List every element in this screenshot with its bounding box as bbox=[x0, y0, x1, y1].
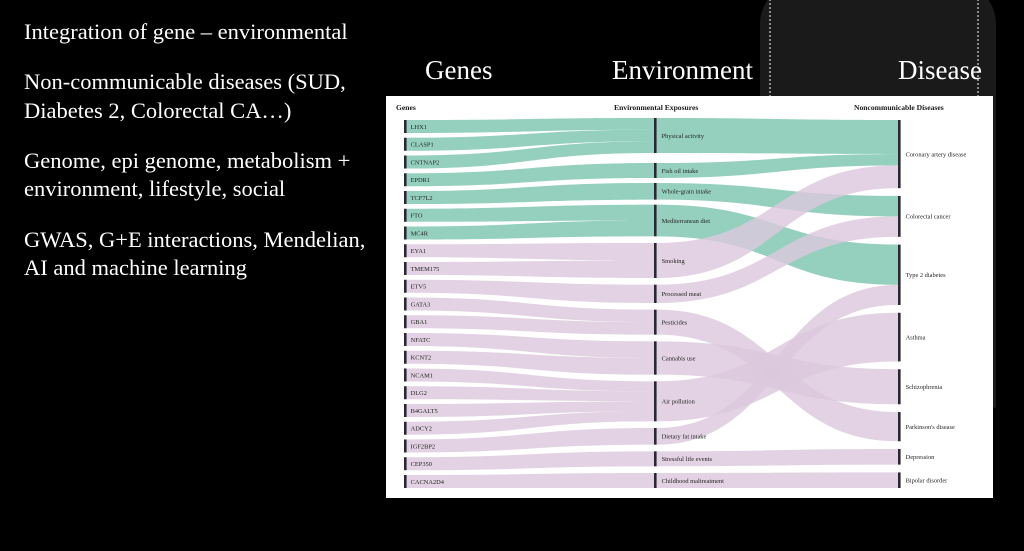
sankey-node-coronary-artery-disease[interactable] bbox=[898, 120, 901, 188]
sankey-node-label-MC4R: MC4R bbox=[411, 230, 429, 237]
slide-body-text: Integration of gene – environmental Non-… bbox=[24, 18, 376, 304]
sankey-node-label-B4GALT5: B4GALT5 bbox=[411, 408, 438, 415]
sankey-node-childhood-maltreatment[interactable] bbox=[654, 473, 657, 488]
sankey-node-label-pesticides: Pesticides bbox=[662, 319, 688, 326]
sankey-node-physical-activity[interactable] bbox=[654, 118, 657, 153]
sankey-node-label-DLG2: DLG2 bbox=[411, 390, 427, 397]
sankey-node-label-CACNA2D4: CACNA2D4 bbox=[411, 479, 445, 486]
sankey-node-IGF2BP2[interactable] bbox=[404, 439, 407, 452]
sankey-node-colorectal-cancer[interactable] bbox=[898, 196, 901, 237]
sankey-node-TCF7L2[interactable] bbox=[404, 191, 407, 204]
sankey-node-FTO[interactable] bbox=[404, 209, 407, 222]
column-title-disease: Noncommunicable Diseases bbox=[854, 103, 944, 112]
sankey-node-bipolar-disorder[interactable] bbox=[898, 472, 901, 488]
sankey-node-label-processed-meat: Processed meat bbox=[662, 291, 702, 298]
sankey-node-label-type-2-diabetes: Type 2 diabetes bbox=[906, 272, 947, 279]
sankey-node-mediterranean-diet[interactable] bbox=[654, 205, 657, 237]
sankey-node-label-coronary-artery-disease: Coronary artery disease bbox=[906, 151, 967, 158]
sankey-node-label-depression: Depression bbox=[906, 454, 936, 461]
sankey-node-CACNA2D4[interactable] bbox=[404, 475, 407, 488]
sankey-node-label-parkinsons-disease: Parkinson's disease bbox=[906, 424, 955, 431]
sankey-node-air-pollution[interactable] bbox=[654, 381, 657, 421]
body-paragraph-4: GWAS, G+E interactions, Mendelian, AI an… bbox=[24, 226, 376, 283]
sankey-node-label-TCF7L2: TCF7L2 bbox=[411, 195, 433, 202]
sankey-node-stressful-life-events[interactable] bbox=[654, 451, 657, 466]
sankey-node-label-ADCY2: ADCY2 bbox=[411, 426, 432, 433]
sankey-node-GATA3[interactable] bbox=[404, 297, 407, 310]
sankey-node-label-schizophrenia: Schizophrenia bbox=[906, 384, 943, 391]
sankey-node-LHX1[interactable] bbox=[404, 120, 407, 133]
sankey-node-GBA1[interactable] bbox=[404, 315, 407, 328]
sankey-node-label-dietary-fat-intake: Dietary fat intake bbox=[662, 434, 707, 441]
sankey-node-MC4R[interactable] bbox=[404, 226, 407, 239]
slide-canvas: Integration of gene – environmental Non-… bbox=[0, 0, 1024, 551]
sankey-node-EPDR1[interactable] bbox=[404, 173, 407, 186]
sankey-node-label-bipolar-disorder: Bipolar disorder bbox=[906, 478, 949, 485]
sankey-node-label-childhood-maltreatment: Childhood maltreatment bbox=[662, 478, 725, 485]
sankey-node-processed-meat[interactable] bbox=[654, 285, 657, 303]
sankey-node-B4GALT5[interactable] bbox=[404, 404, 407, 417]
sankey-node-EYA1[interactable] bbox=[404, 244, 407, 257]
heading-disease: Disease bbox=[898, 57, 982, 84]
sankey-link-TCF7L2-to-whole-grain-intake bbox=[407, 183, 654, 204]
sankey-node-cannabis-use[interactable] bbox=[654, 341, 657, 374]
sankey-node-CNTNAP2[interactable] bbox=[404, 155, 407, 168]
sankey-link-FTO-to-mediterranean-diet bbox=[407, 205, 654, 222]
sankey-node-label-IGF2BP2: IGF2BP2 bbox=[411, 443, 436, 450]
sankey-node-KCNT2[interactable] bbox=[404, 351, 407, 364]
sankey-links-gene-environment bbox=[407, 118, 654, 488]
sankey-node-TMEM175[interactable] bbox=[404, 262, 407, 275]
sankey-diagram-panel: LHX1CLASP1CNTNAP2EPDR1TCF7L2FTOMC4REYA1T… bbox=[386, 96, 993, 498]
sankey-node-schizophrenia[interactable] bbox=[898, 369, 901, 404]
sankey-node-CEP350[interactable] bbox=[404, 457, 407, 470]
sankey-column-titles: Genes Environmental Exposures Noncommuni… bbox=[396, 103, 944, 112]
sankey-node-label-smoking: Smoking bbox=[662, 258, 686, 265]
sankey-node-label-GBA1: GBA1 bbox=[411, 319, 428, 326]
sankey-node-label-stressful-life-events: Stressful life events bbox=[662, 456, 713, 463]
sankey-node-parkinsons-disease[interactable] bbox=[898, 412, 901, 441]
sankey-node-label-NFATC: NFATC bbox=[411, 337, 431, 344]
sankey-node-label-TMEM175: TMEM175 bbox=[411, 266, 440, 273]
sankey-node-label-air-pollution: Air pollution bbox=[662, 399, 696, 406]
heading-genes: Genes bbox=[425, 57, 492, 84]
sankey-node-label-EPDR1: EPDR1 bbox=[411, 177, 431, 184]
sankey-node-dietary-fat-intake[interactable] bbox=[654, 428, 657, 445]
sankey-node-label-EYA1: EYA1 bbox=[411, 248, 427, 255]
sankey-node-label-colorectal-cancer: Colorectal cancer bbox=[906, 214, 952, 221]
sankey-node-label-fish-oil-intake: Fish oil intake bbox=[662, 168, 699, 175]
sankey-node-label-FTO: FTO bbox=[411, 213, 423, 220]
sankey-link-TMEM175-to-smoking bbox=[407, 261, 654, 279]
sankey-node-label-physical-activity: Physical activity bbox=[662, 133, 705, 140]
column-title-genes: Genes bbox=[396, 103, 416, 112]
sankey-node-asthma[interactable] bbox=[898, 313, 901, 362]
sankey-node-NFATC[interactable] bbox=[404, 333, 407, 346]
sankey-node-ADCY2[interactable] bbox=[404, 422, 407, 435]
body-paragraph-2: Non-communicable diseases (SUD, Diabetes… bbox=[24, 68, 376, 125]
body-paragraph-1: Integration of gene – environmental bbox=[24, 18, 376, 46]
sankey-node-depression[interactable] bbox=[898, 449, 901, 465]
heading-environment: Environment bbox=[612, 57, 753, 84]
sankey-node-NCAM1[interactable] bbox=[404, 368, 407, 381]
sankey-node-label-KCNT2: KCNT2 bbox=[411, 355, 432, 362]
decorative-dotted-line-right bbox=[977, 0, 979, 104]
sankey-node-label-ETV5: ETV5 bbox=[411, 284, 427, 291]
sankey-node-label-LHX1: LHX1 bbox=[411, 124, 427, 131]
sankey-node-label-NCAM1: NCAM1 bbox=[411, 372, 433, 379]
sankey-node-label-GATA3: GATA3 bbox=[411, 301, 431, 308]
sankey-node-CLASP1[interactable] bbox=[404, 138, 407, 151]
sankey-node-ETV5[interactable] bbox=[404, 280, 407, 293]
sankey-link-EYA1-to-smoking bbox=[407, 243, 654, 261]
sankey-node-DLG2[interactable] bbox=[404, 386, 407, 399]
sankey-node-label-asthma: Asthma bbox=[906, 334, 926, 341]
sankey-link-CEP350-to-stressful-life-events bbox=[407, 451, 654, 470]
decorative-dotted-line-left bbox=[769, 0, 771, 104]
sankey-node-label-CNTNAP2: CNTNAP2 bbox=[411, 159, 440, 166]
sankey-svg: LHX1CLASP1CNTNAP2EPDR1TCF7L2FTOMC4REYA1T… bbox=[386, 96, 993, 498]
column-title-environment: Environmental Exposures bbox=[614, 103, 698, 112]
sankey-node-label-CEP350: CEP350 bbox=[411, 461, 432, 468]
sankey-node-smoking[interactable] bbox=[654, 243, 657, 278]
sankey-node-label-cannabis-use: Cannabis use bbox=[662, 355, 696, 362]
sankey-node-whole-grain-intake[interactable] bbox=[654, 183, 657, 200]
sankey-node-type-2-diabetes[interactable] bbox=[898, 245, 901, 305]
sankey-node-label-mediterranean-diet: Mediterranean diet bbox=[662, 218, 711, 225]
body-paragraph-3: Genome, epi genome, metabolism + environ… bbox=[24, 147, 376, 204]
sankey-node-label-CLASP1: CLASP1 bbox=[411, 142, 434, 149]
sankey-node-fish-oil-intake[interactable] bbox=[654, 163, 657, 178]
sankey-node-label-whole-grain-intake: Whole-grain intake bbox=[662, 189, 712, 196]
sankey-node-pesticides[interactable] bbox=[654, 310, 657, 335]
sankey-link-MC4R-to-mediterranean-diet bbox=[407, 221, 654, 240]
